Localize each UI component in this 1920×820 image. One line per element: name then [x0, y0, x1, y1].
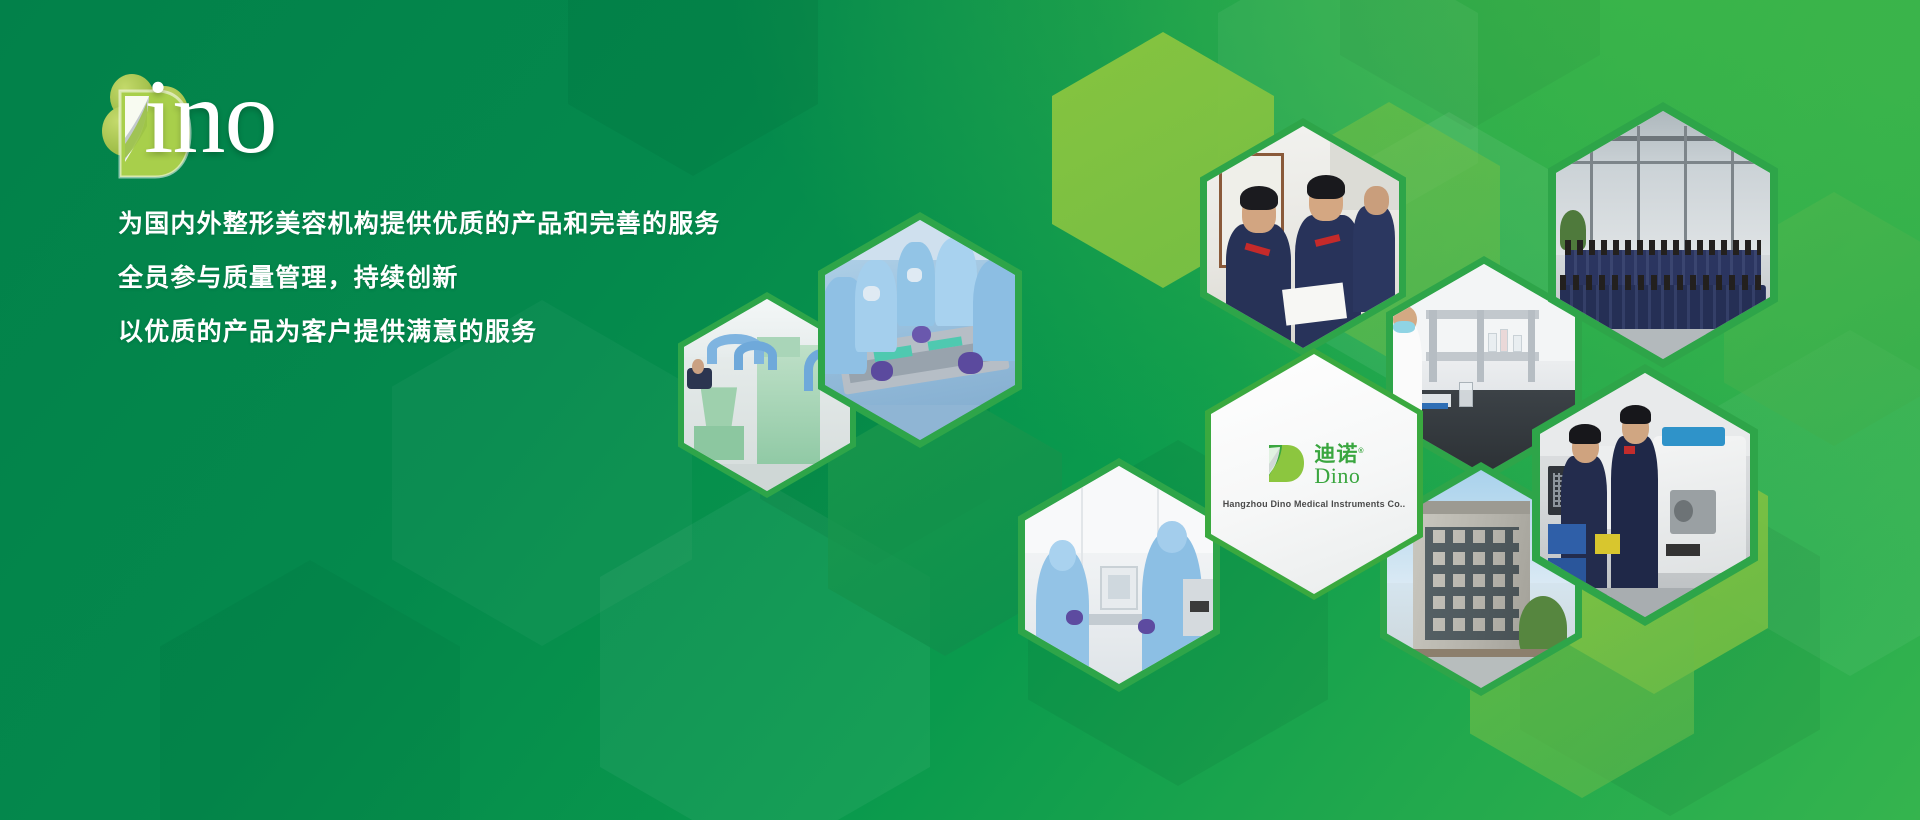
- hero-banner: 迪诺® Dino Hangzhou Dino Medical Instrumen…: [0, 0, 1920, 820]
- center-logo-name-en: Dino: [1314, 465, 1360, 486]
- center-logo-mark: 迪诺® Dino: [1263, 442, 1364, 486]
- tagline-1: 为国内外整形美容机构提供优质的产品和完善的服务: [118, 212, 721, 237]
- background-hexagon-6: [160, 560, 460, 820]
- background-hexagon-5: [600, 482, 930, 820]
- background-hexagon-11: [1340, 0, 1600, 130]
- brand-logo: ino: [92, 62, 512, 172]
- background-hexagon-3: [568, 0, 818, 176]
- tagline-list: 为国内外整形美容机构提供优质的产品和完善的服务 全员参与质量管理，持续创新 以优…: [118, 212, 721, 374]
- tagline-3: 以优质的产品为客户提供满意的服务: [118, 320, 721, 345]
- brand-wordmark: ino: [144, 64, 276, 170]
- dino-leaf-d-icon: [1263, 442, 1307, 486]
- center-logo-hexagon[interactable]: 迪诺® Dino Hangzhou Dino Medical Instrumen…: [1205, 348, 1423, 600]
- center-logo-company-name: Hangzhou Dino Medical Instruments Co..: [1223, 499, 1406, 509]
- registered-mark: ®: [1358, 448, 1364, 455]
- tagline-2: 全员参与质量管理，持续创新: [118, 266, 721, 291]
- center-logo-name-cn: 迪诺®: [1314, 442, 1364, 465]
